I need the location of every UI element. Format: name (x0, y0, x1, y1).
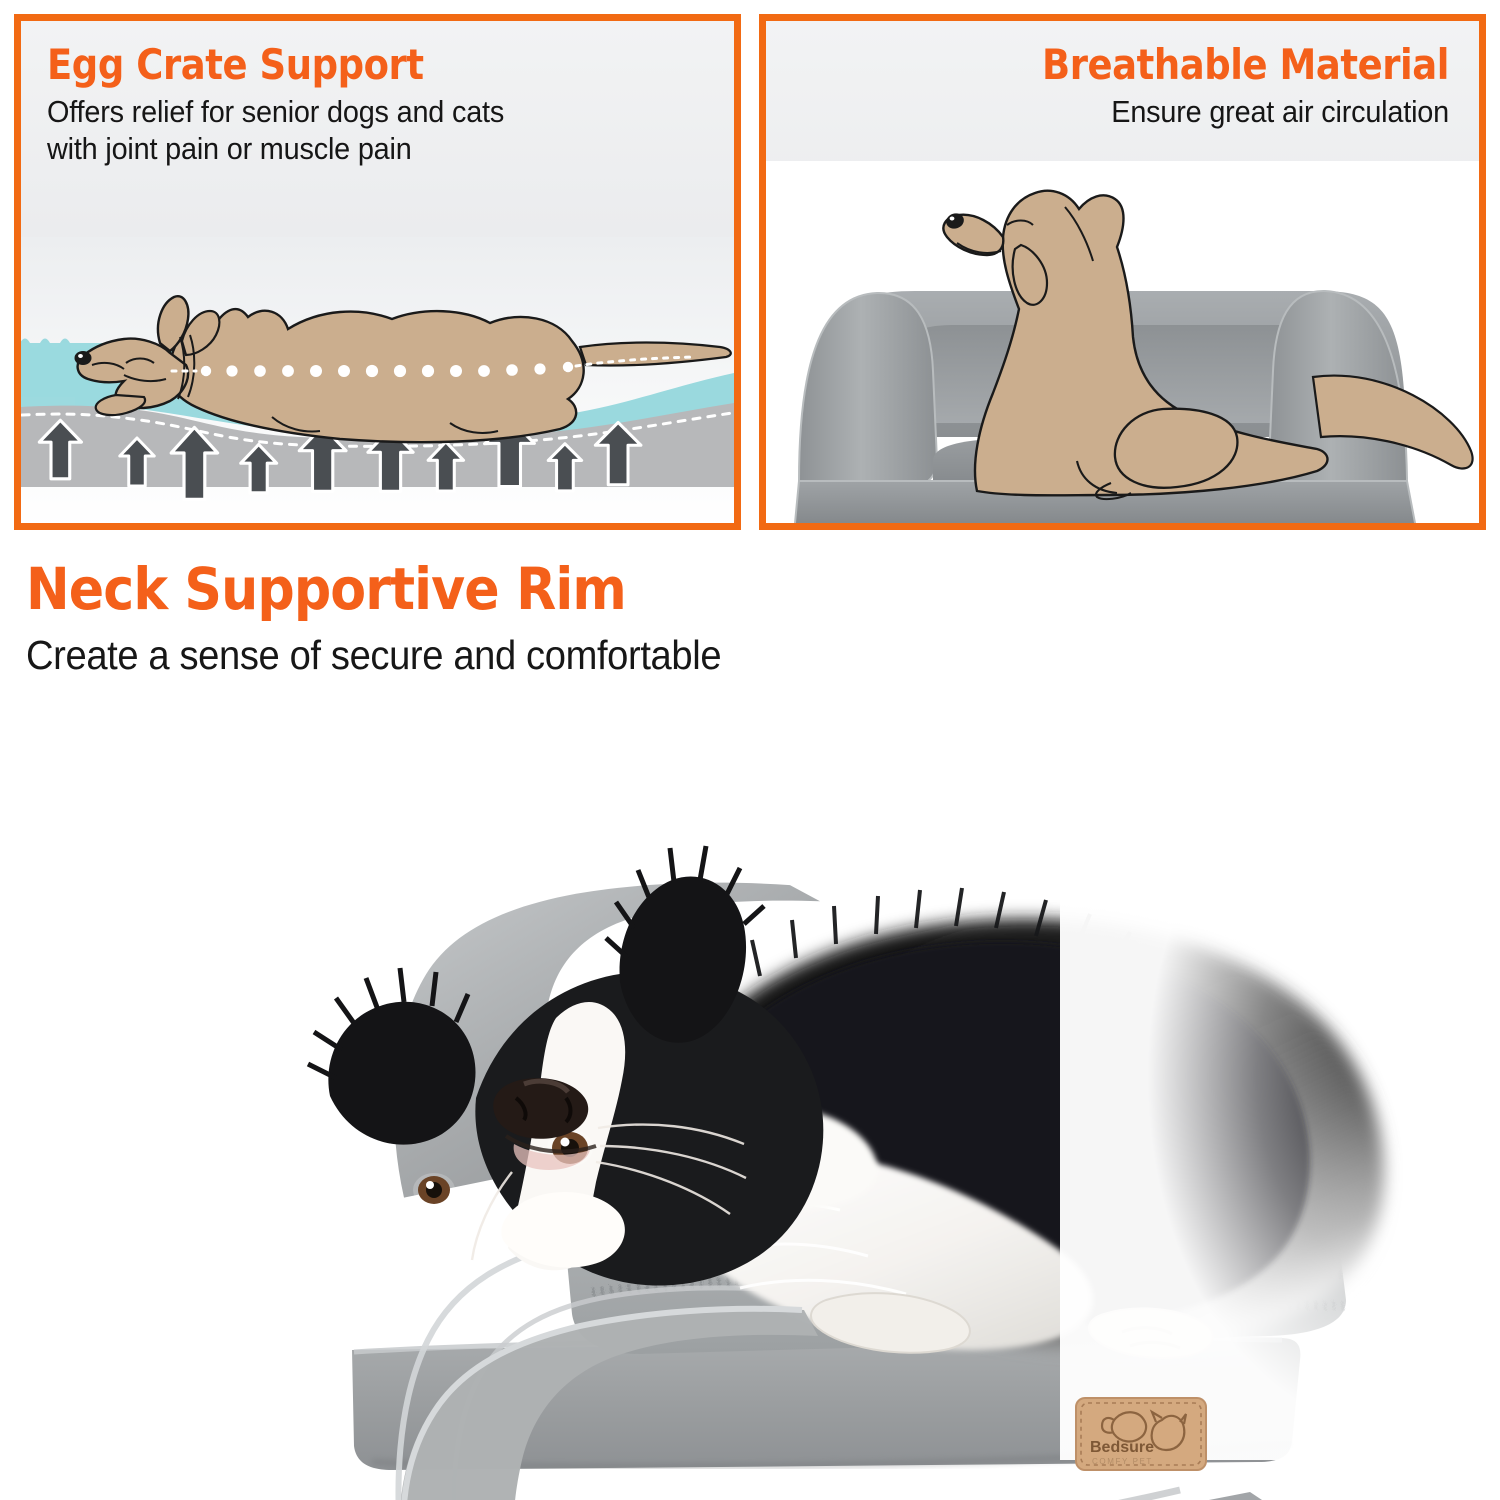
panel-left-subtitle-line1: Offers relief for senior dogs and cats (47, 93, 662, 130)
section-subtitle: Create a sense of secure and comfortable (26, 630, 1235, 680)
spine-dot (394, 365, 406, 377)
product-infographic-page: Egg Crate Support Offers relief for seni… (0, 0, 1500, 1500)
spine-dot (506, 364, 518, 376)
spine-dot (226, 365, 237, 376)
panel-right-title: Breathable Material (871, 41, 1449, 89)
spine-dot (450, 365, 462, 377)
dog-eye-left-glint (426, 1181, 434, 1189)
hero-photo: Bedsure COMFY PET (0, 700, 1500, 1500)
dog-nose-highlight (950, 217, 955, 221)
spine-dot (563, 362, 573, 372)
egg-crate-illustration (20, 237, 734, 527)
photo-fade-overlay (1060, 820, 1500, 1460)
section-title: Neck Supportive Rim (26, 556, 1196, 622)
spine-dot (254, 365, 266, 377)
feature-panel-egg-crate-support: Egg Crate Support Offers relief for seni… (14, 14, 741, 530)
panel-right-subtitle-line1: Ensure great air circulation (838, 93, 1449, 130)
dog-eye-right-glint (561, 1138, 570, 1147)
panel-left-subtitle-line2: with joint pain or muscle pain (47, 130, 662, 167)
panel-left-header: Egg Crate Support Offers relief for seni… (21, 21, 734, 167)
hero-dog-on-bed-scene: Bedsure COMFY PET (0, 700, 1500, 1500)
dog-nose-highlight (78, 354, 83, 358)
spine-dot (338, 365, 350, 377)
spine-dot (310, 365, 322, 377)
brand-tag: Bedsure COMFY PET (1076, 1398, 1206, 1470)
panel-left-title: Egg Crate Support (47, 41, 629, 89)
spine-dot (422, 365, 434, 377)
breathable-bed-illustration (765, 161, 1479, 530)
panel-right-header: Breathable Material Ensure great air cir… (766, 21, 1479, 130)
brand-tag-tagline: COMFY PET (1092, 1457, 1153, 1466)
brand-tag-name: Bedsure (1090, 1439, 1154, 1456)
spine-dot (201, 366, 211, 376)
section-heading-block: Neck Supportive Rim Create a sense of se… (26, 556, 1326, 680)
spine-dot (282, 365, 294, 377)
dog-nose (75, 351, 92, 365)
feature-panel-breathable-material: Breathable Material Ensure great air cir… (759, 14, 1486, 530)
spine-dot (478, 365, 490, 377)
spine-dot (366, 365, 378, 377)
spine-dot (534, 363, 545, 374)
